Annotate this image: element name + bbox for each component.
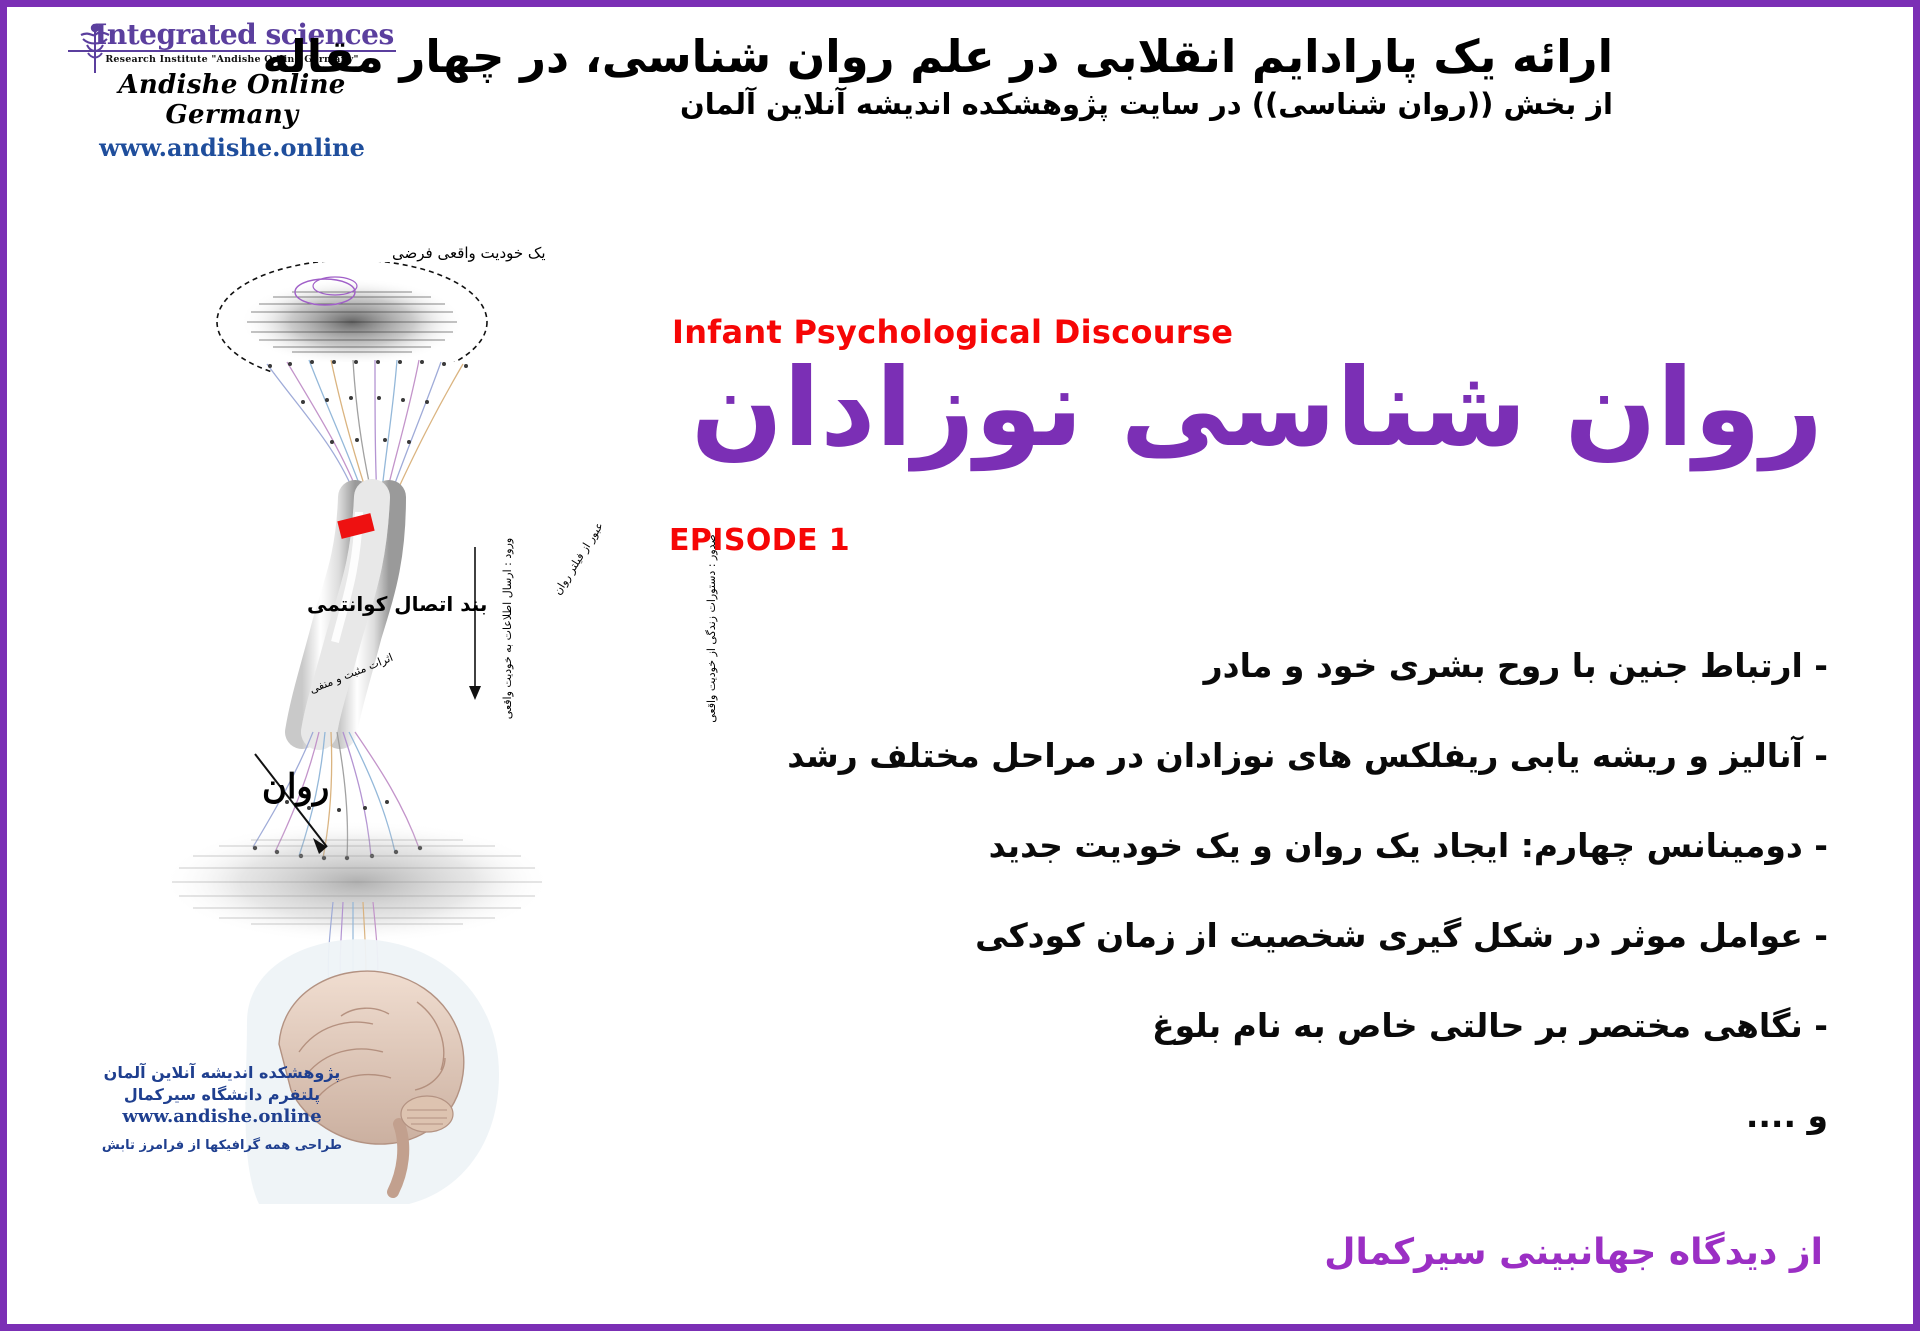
poster-canvas: Integrated sciences Research Institute "… bbox=[0, 0, 1920, 1331]
illustration-label-hypothetical: یک خودیت واقعی فرضی bbox=[392, 244, 546, 262]
credit-block: پژوهشکده اندیشه آنلاین آلمان پلتفرم دانش… bbox=[62, 1062, 382, 1153]
credit-line-2: پلتفرم دانشگاه سیرکمال bbox=[62, 1084, 382, 1106]
list-item: - ارتباط جنین با روح بشری خود و مادر bbox=[558, 647, 1828, 685]
tagline: از دیدگاه جهانبینی سیرکمال bbox=[563, 1232, 1823, 1273]
list-item: - دومینانس چهارم: ایجاد یک روان و یک خود… bbox=[558, 827, 1828, 865]
list-item: و .... bbox=[558, 1097, 1828, 1135]
episode-badge: EPISODE 1 bbox=[669, 523, 850, 558]
credit-line-1: پژوهشکده اندیشه آنلاین آلمان bbox=[62, 1062, 382, 1084]
illustration-label-inbound: ورود : ارسال اطلاعات به خودیت واقعی bbox=[501, 538, 514, 719]
header-line-2: از بخش ((روان شناسی)) در سایت پژوهشکده ا… bbox=[293, 87, 1613, 122]
page-title: روان شناسی نوزادان bbox=[573, 352, 1823, 465]
list-item: - نگاهی مختصر بر حالتی خاص به نام بلوغ bbox=[558, 1007, 1828, 1045]
header-text-block: ارائه یک پارادایم انقلابی در علم روان شن… bbox=[293, 31, 1613, 122]
logo-website-url[interactable]: www.andishe.online bbox=[67, 133, 397, 162]
bullet-list: - ارتباط جنین با روح بشری خود و مادر - آ… bbox=[558, 647, 1828, 1187]
list-item: - عوامل موثر در شکل گیری شخصیت از زمان ک… bbox=[558, 917, 1828, 955]
credit-note: طراحی همه گرافیکها از فرامرز تابش bbox=[62, 1138, 382, 1153]
illustration-label-quantum-link: بند اتصال کوانتمی bbox=[307, 592, 487, 616]
header-line-1: ارائه یک پارادایم انقلابی در علم روان شن… bbox=[293, 31, 1613, 83]
credit-url[interactable]: www.andishe.online bbox=[62, 1105, 382, 1128]
illustration-label-psyche: روان bbox=[262, 767, 329, 807]
list-item: - آنالیز و ریشه یابی ریفلکس های نوزادان … bbox=[558, 737, 1828, 775]
caduceus-icon bbox=[73, 23, 117, 75]
